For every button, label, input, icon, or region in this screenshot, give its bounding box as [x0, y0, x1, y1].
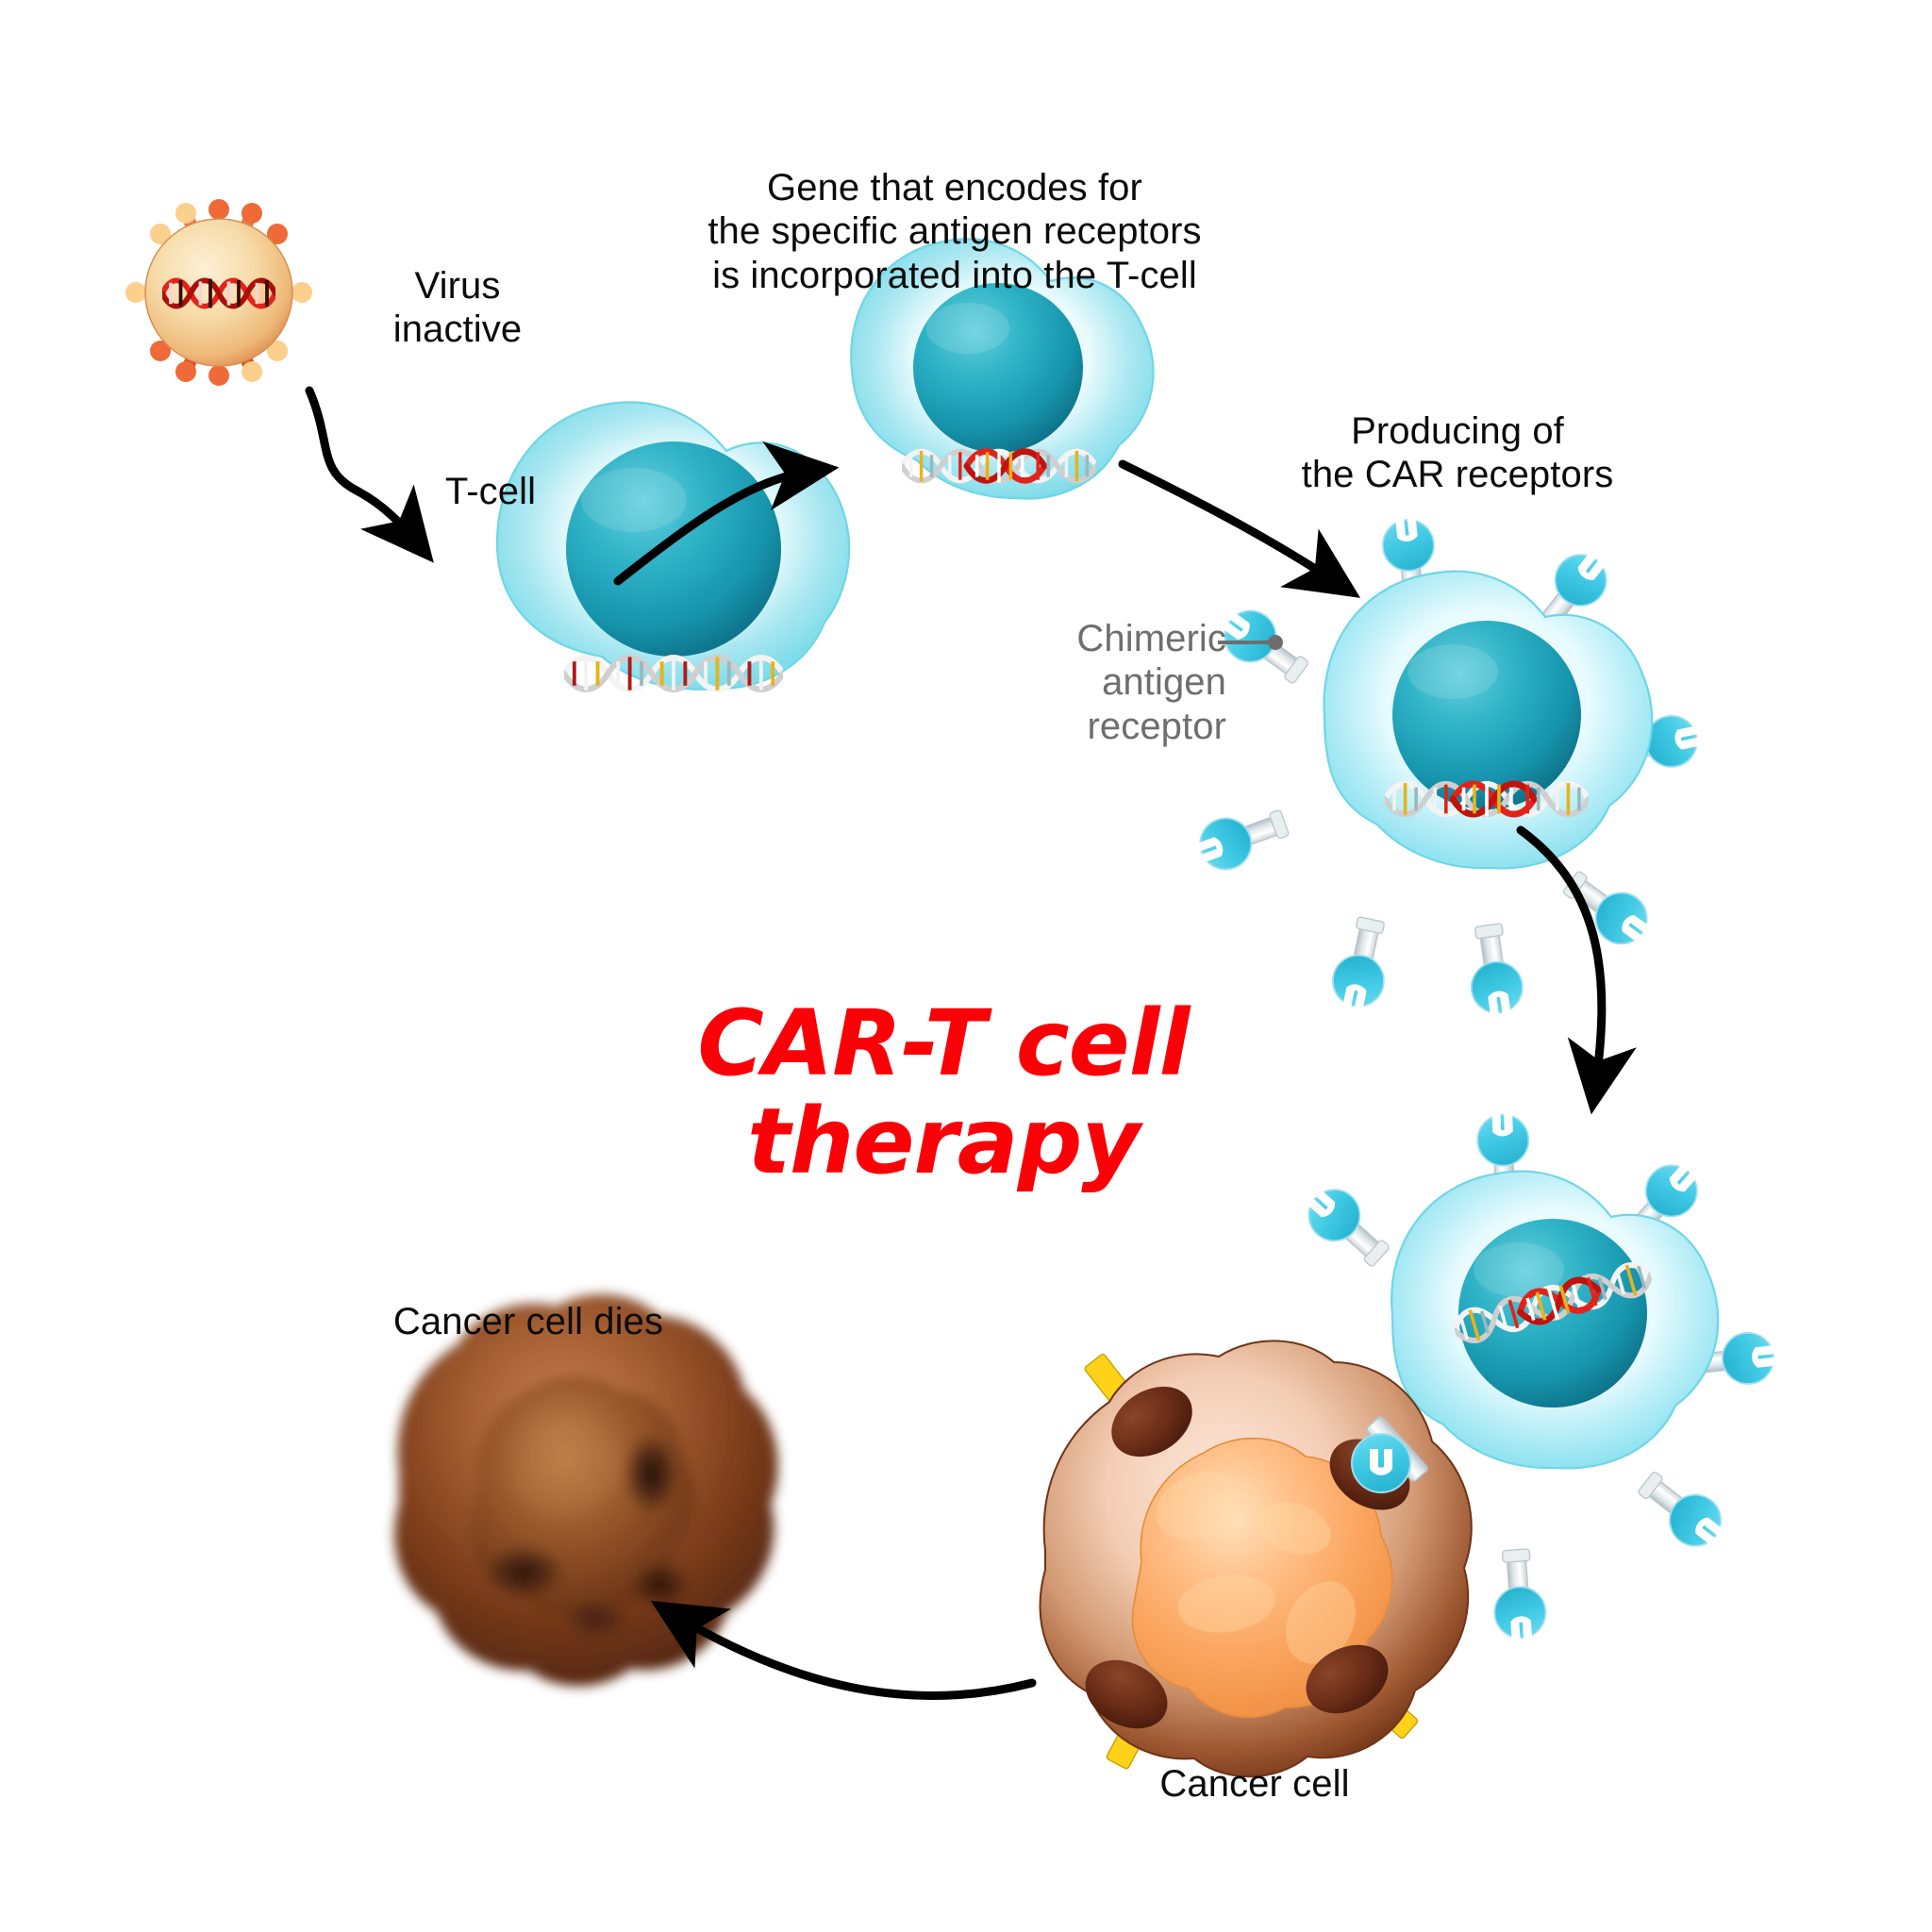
arrow-car-t-to-attacking: [1521, 830, 1602, 1094]
arrow-virus-to-tcell: [309, 391, 421, 547]
t-cell-label: T-cell: [396, 470, 585, 513]
cancer-cell: [1041, 1341, 1472, 1776]
virus-label: Virus inactive: [330, 264, 585, 352]
car-receptor-group-2: [1245, 1112, 1777, 1641]
gene-incorporation-label: Gene that encodes for the specific antig…: [672, 166, 1238, 297]
producing-car-label: Producing of the CAR receptors: [1269, 409, 1646, 497]
chimeric-receptor-label: Chimeric antigen receptor: [1057, 617, 1226, 748]
arrow-cancer-to-dying: [668, 1611, 1032, 1695]
car-t-cell: [1191, 516, 1704, 1018]
bound-car-receptor: [1352, 1415, 1429, 1492]
dying-cancer-cell: [395, 1295, 776, 1685]
car-receptor-group: [1191, 516, 1704, 1018]
leader-chimeric-receptor: [1218, 635, 1283, 650]
car-t-cell-attacking: [1245, 1112, 1777, 1641]
cancer-cell-dies-label: Cancer cell dies: [330, 1300, 726, 1343]
arrow-tcell-to-gene-cell: [618, 470, 819, 581]
diagram-title: CAR-T cell therapy: [660, 995, 1226, 1191]
diagram-canvas: Virus inactive T-cell Gene that encodes …: [0, 0, 1932, 1932]
cancer-cell-label: Cancer cell: [1113, 1762, 1396, 1806]
antigen-head-group: [1074, 1373, 1424, 1742]
virus-particle: [125, 199, 312, 386]
antigen-group: [1084, 1353, 1419, 1769]
t-cell: [497, 402, 849, 690]
